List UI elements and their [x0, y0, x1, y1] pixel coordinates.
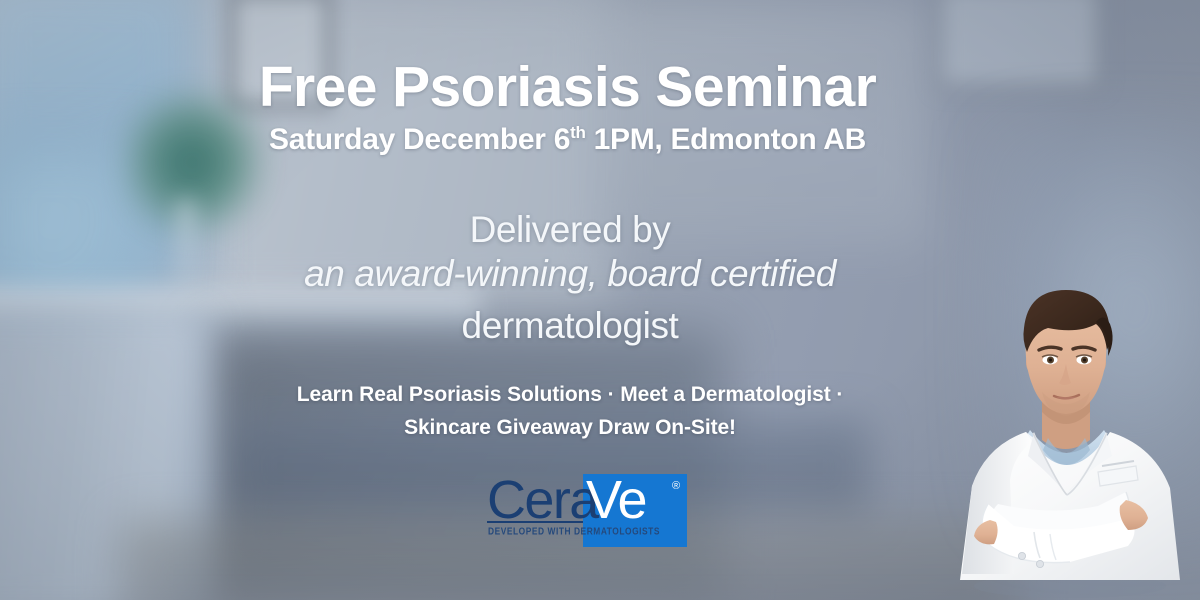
registered-trademark-icon: ®: [672, 480, 680, 492]
cerave-wordmark-dark: Cera: [487, 473, 598, 527]
event-time-city: 1PM, Edmonton AB: [586, 123, 866, 156]
cerave-logo-divider: [487, 521, 583, 523]
highlights-line-2: Skincare Giveaway Draw On-Site!: [404, 416, 736, 439]
cerave-logo: Cera Ve ® DEVELOPED WITH DERMATOLOGISTS: [487, 472, 687, 548]
event-date-location: Saturday December 6th 1PM, Edmonton AB: [0, 123, 1200, 157]
doctor-photo: [930, 280, 1200, 600]
event-date-prefix: Saturday December 6: [269, 123, 570, 156]
highlights-line-1: Learn Real Psoriasis Solutions · Meet a …: [297, 383, 843, 406]
cerave-tagline: DEVELOPED WITH DERMATOLOGISTS: [488, 525, 660, 537]
event-banner: Free Psoriasis Seminar Saturday December…: [0, 0, 1200, 600]
delivered-by-label: Delivered by: [0, 209, 1200, 251]
date-ordinal-suffix: th: [570, 123, 585, 142]
event-headline: Free Psoriasis Seminar: [0, 58, 1200, 116]
cerave-wordmark-light: Ve: [586, 473, 646, 527]
